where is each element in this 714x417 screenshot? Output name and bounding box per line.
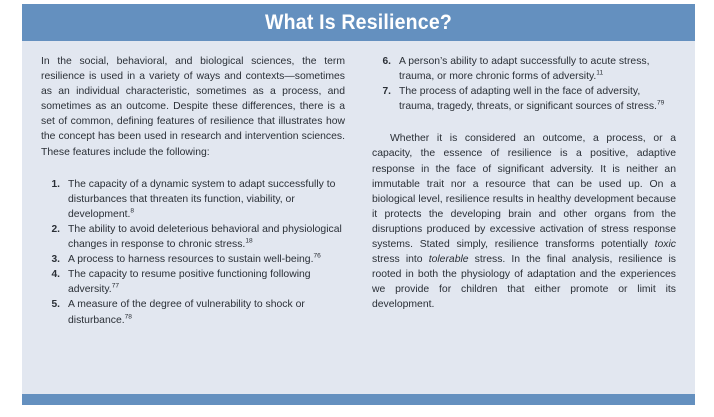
list-item-text: The ability to avoid deleterious behavio… — [68, 224, 342, 250]
two-column-layout: In the social, behavioral, and biologica… — [41, 54, 676, 328]
list-item: A process to harness resources to sustai… — [41, 252, 345, 267]
footnote-marker: 76 — [313, 253, 320, 260]
list-item-text: A measure of the degree of vulnerability… — [68, 299, 305, 325]
header-bar: What Is Resilience? — [22, 4, 695, 41]
footer-bar — [22, 394, 695, 405]
list-item: The capacity of a dynamic system to adap… — [41, 177, 345, 222]
features-list-right: A person’s ability to adapt successfully… — [372, 54, 676, 114]
emphasis-toxic: toxic — [655, 239, 676, 250]
resilience-callout-box: What Is Resilience? In the social, behav… — [22, 4, 695, 405]
closing-text-part2: stress into — [372, 254, 429, 265]
footnote-marker: 8 — [130, 207, 134, 214]
list-item-text: A process to harness resources to sustai… — [68, 254, 313, 265]
list-item: A person’s ability to adapt successfully… — [372, 54, 676, 84]
closing-paragraph: Whether it is considered an outcome, a p… — [372, 131, 676, 312]
intro-paragraph: In the social, behavioral, and biologica… — [41, 54, 345, 160]
list-item: A measure of the degree of vulnerability… — [41, 297, 345, 327]
footnote-marker: 11 — [596, 70, 603, 77]
list-item: The capacity to resume positive function… — [41, 267, 345, 297]
emphasis-tolerable: tolerable — [429, 254, 469, 265]
left-column: In the social, behavioral, and biologica… — [41, 54, 345, 328]
footnote-marker: 78 — [125, 313, 132, 320]
list-item-text: A person’s ability to adapt successfully… — [399, 56, 649, 82]
page-title: What Is Resilience? — [265, 11, 452, 35]
right-column: A person’s ability to adapt successfully… — [372, 54, 676, 313]
list-item: The process of adapting well in the face… — [372, 84, 676, 114]
list-item-text: The process of adapting well in the face… — [399, 86, 657, 112]
footnote-marker: 18 — [245, 238, 252, 245]
footnote-marker: 77 — [112, 283, 119, 290]
list-item-text: The capacity of a dynamic system to adap… — [68, 179, 335, 220]
footnote-marker: 79 — [657, 100, 664, 107]
list-item-text: The capacity to resume positive function… — [68, 269, 311, 295]
list-item: The ability to avoid deleterious behavio… — [41, 222, 345, 252]
content-body: In the social, behavioral, and biologica… — [22, 41, 695, 394]
features-list-left: The capacity of a dynamic system to adap… — [41, 177, 345, 328]
closing-text-part1: Whether it is considered an outcome, a p… — [372, 133, 676, 250]
